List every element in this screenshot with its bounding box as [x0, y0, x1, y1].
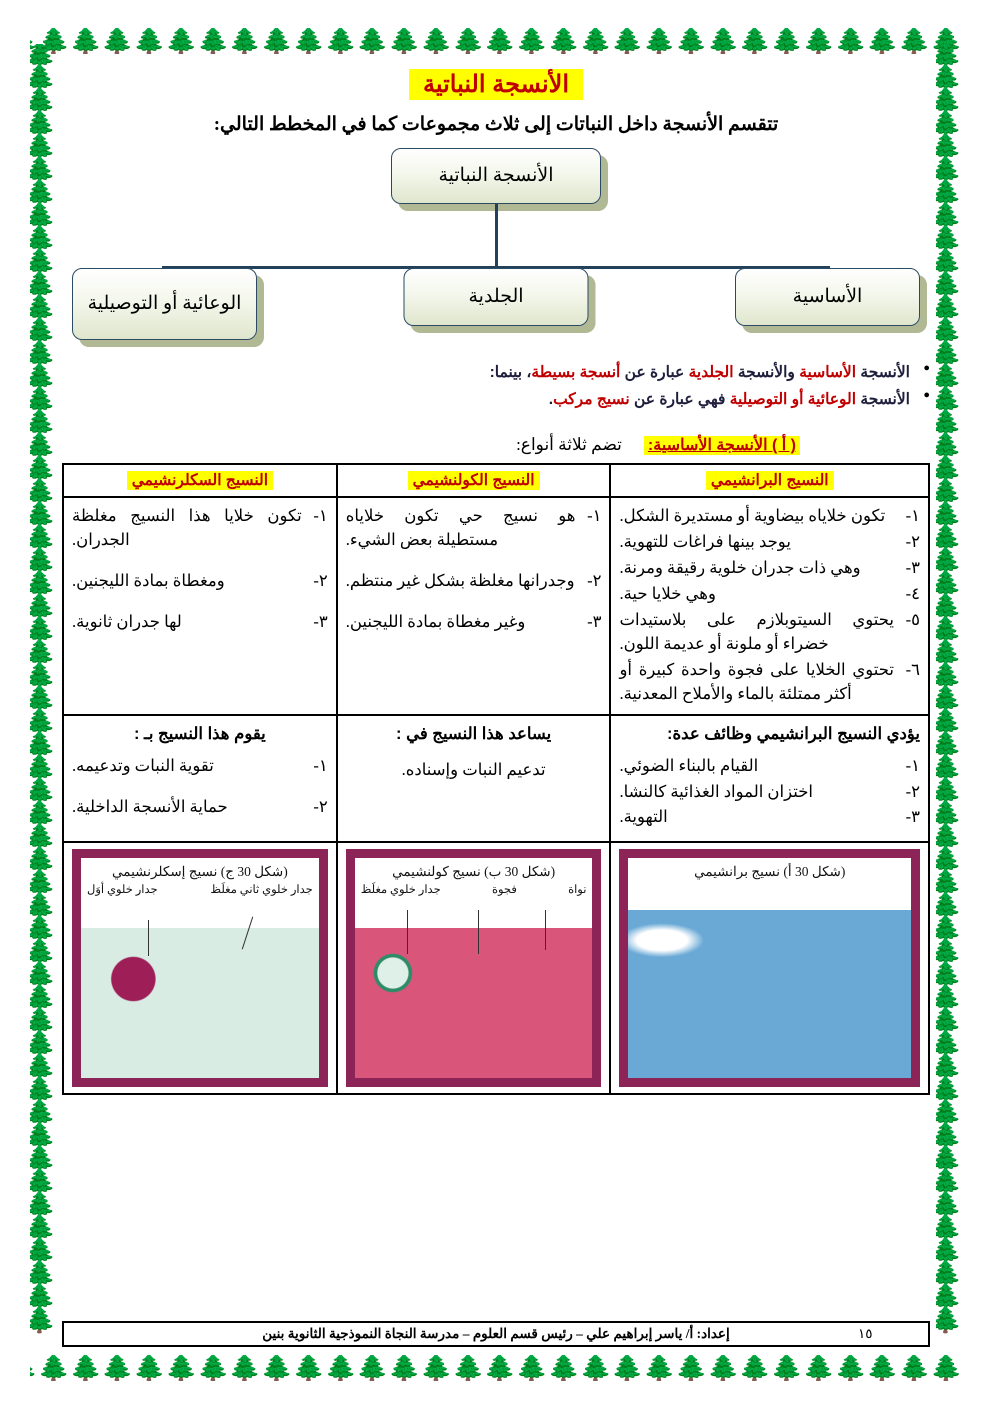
bullet-2-part-1: الأنسجة	[860, 391, 910, 408]
item-text: وجدرانها مغلظة بشكل غير منتظم.	[346, 571, 575, 590]
cell-sclerenchyma-features: ١-تكون خلايا هذا النسيج مغلظة الجدران. ٢…	[63, 497, 337, 714]
list-item: ١-تقوية النبات وتدعيمه.	[72, 754, 328, 778]
flowchart-node-root: الأنسجة النباتية	[391, 148, 601, 204]
item-number: ١-	[313, 754, 327, 778]
item-number: ٢-	[906, 780, 920, 804]
bullet-1-red-2: الجلدية	[689, 364, 734, 381]
item-number: ١-	[906, 754, 920, 778]
leader-line-thick-wall	[545, 910, 546, 950]
bullet-1-part-3: عبارة عن	[625, 364, 685, 381]
list-item: ٦-تحتوي الخلايا على فجوة واحدة كبيرة أو …	[619, 658, 920, 706]
flowchart-child-label-3: الوعائية أو التوصيلية	[88, 292, 242, 316]
bullet-2-red-1: الوعائية أو التوصيلية	[730, 391, 856, 408]
list-item: ٥-يحتوي السيتوبلازم على بلاستيدات خضراء …	[619, 608, 920, 656]
footer-credit: إعداد: أ/ ياسر إبراهيم علي – رئيس قسم ال…	[134, 1326, 858, 1342]
bullet-item-complex-tissue: الأنسجة الوعائية أو التوصيلية فهي عبارة …	[62, 386, 930, 413]
item-number: ٥-	[906, 608, 920, 632]
list-item: ٣-لها جدران ثانوية.	[72, 610, 328, 634]
bullet-1-part-4: ، بينما:	[490, 364, 532, 381]
figure-label-thick-wall: جدار خلوي مغلَظ	[361, 882, 441, 896]
table-row-features: ١-تكون خلاياه بيضاوية أو مستديرة الشكل. …	[63, 497, 929, 714]
table-header-parenchyma-label: النسيج البرانشيمي	[706, 471, 834, 490]
page-title: الأنسجة النباتية	[62, 70, 930, 99]
item-number: ٢-	[587, 569, 601, 593]
item-number: ٣-	[906, 556, 920, 580]
list-item: ١-القيام بالبناء الضوئي.	[619, 754, 920, 778]
collenchyma-function-text: تدعيم النبات وإسناده.	[346, 760, 602, 780]
list-item: ٤-وهي خلايا حية.	[619, 582, 920, 606]
figure-parenchyma-caption: (شكل 30 أ) نسيج برانشيمي	[628, 858, 911, 882]
sclerenchyma-function-list: ١-تقوية النبات وتدعيمه. ٢-حماية الأنسجة …	[72, 754, 328, 819]
parenchyma-function-list: ١-القيام بالبناء الضوئي. ٢-اختزان المواد…	[619, 754, 920, 830]
list-item: ٣-وغير مغطاة بمادة الليجنين.	[346, 610, 602, 634]
leader-line-vacuole	[478, 910, 479, 954]
parenchyma-feature-list: ١-تكون خلاياه بيضاوية أو مستديرة الشكل. …	[619, 504, 920, 705]
list-item: ١-هو نسيج حي تكون خلاياه مستطيلة بعض الش…	[346, 504, 602, 552]
page-footer: ١٥ إعداد: أ/ ياسر إبراهيم علي – رئيس قسم…	[62, 1321, 930, 1347]
page-number: ١٥	[858, 1326, 918, 1342]
figure-parenchyma: (شكل 30 أ) نسيج برانشيمي	[619, 849, 920, 1087]
item-text: تحتوي الخلايا على فجوة واحدة كبيرة أو أك…	[619, 660, 894, 703]
figure-label-vacuole: فجوة	[492, 882, 517, 896]
item-text: ومغطاة بمادة الليجنين.	[72, 571, 225, 590]
item-text: هو نسيج حي تكون خلاياه مستطيلة بعض الشيء…	[346, 506, 576, 549]
item-text: حماية الأنسجة الداخلية.	[72, 797, 228, 816]
cell-sclerenchyma-figure: (شكل 30 ج) نسيج إسكلرنشيمي جدار خلوي ثان…	[63, 842, 337, 1094]
item-text: القيام بالبناء الضوئي.	[619, 756, 758, 775]
item-number: ٢-	[313, 569, 327, 593]
cell-collenchyma-features: ١-هو نسيج حي تكون خلاياه مستطيلة بعض الش…	[337, 497, 611, 714]
collenchyma-functions-lead: يساعد هذا النسيج في :	[346, 724, 602, 744]
figure-collenchyma-caption: (شكل 30 ب) نسيج كولنشيمي	[355, 858, 593, 882]
list-item: ٣-وهي ذات جدران خلوية رقيقة ومرنة.	[619, 556, 920, 580]
tissue-flowchart: الأنسجة النباتية الأساسية الجلدية الوعائ…	[62, 148, 930, 353]
item-text: لها جدران ثانوية.	[72, 612, 182, 631]
item-number: ٤-	[906, 582, 920, 606]
leader-line-nucleus	[407, 910, 408, 954]
connector-root-vertical	[495, 204, 498, 266]
flowchart-node-ground-tissue: الأساسية	[735, 268, 920, 326]
item-number: ٣-	[906, 805, 920, 829]
table-row-headers: النسيج البرانشيمي النسيج الكولنشيمي النس…	[63, 464, 929, 497]
cell-parenchyma-features: ١-تكون خلاياه بيضاوية أو مستديرة الشكل. …	[610, 497, 929, 714]
item-number: ٦-	[906, 658, 920, 682]
item-number: ١-	[906, 504, 920, 528]
table-header-parenchyma: النسيج البرانشيمي	[610, 464, 929, 497]
sclerenchyma-feature-list: ١-تكون خلايا هذا النسيج مغلظة الجدران. ٢…	[72, 504, 328, 634]
item-text: تكون خلاياه بيضاوية أو مستديرة الشكل.	[619, 506, 885, 525]
item-number: ١-	[587, 504, 601, 528]
page-content: الأنسجة النباتية تتقسم الأنسجة داخل النب…	[62, 62, 930, 1343]
table-header-sclerenchyma: النسيج السكلرنشيمي	[63, 464, 337, 497]
list-item: ٢-حماية الأنسجة الداخلية.	[72, 795, 328, 819]
figure-sclerenchyma-labels: جدار خلوي ثاني مغلَظ جدار خلوي أوَل	[81, 882, 319, 896]
section-heading-rest: تضم ثلاثة أنواع:	[516, 435, 622, 454]
table-row-functions: يؤدي النسيج البرانشيمي وظائف عدة: ١-القي…	[63, 715, 929, 843]
figure-sclerenchyma: (شكل 30 ج) نسيج إسكلرنشيمي جدار خلوي ثان…	[72, 849, 328, 1087]
table-header-sclerenchyma-label: النسيج السكلرنشيمي	[127, 471, 273, 490]
collenchyma-feature-list: ١-هو نسيج حي تكون خلاياه مستطيلة بعض الش…	[346, 504, 602, 634]
page-title-text: الأنسجة النباتية	[409, 69, 583, 100]
flowchart-child-label-2: الجلدية	[468, 285, 523, 309]
item-text: وهي ذات جدران خلوية رقيقة ومرنة.	[619, 558, 860, 577]
bullet-1-red-3: أنسجة بسيطة	[531, 364, 620, 381]
sclerenchyma-functions-lead: يقوم هذا النسيج بـ :	[72, 724, 328, 744]
bullet-1-part-2: والأنسجة	[738, 364, 795, 381]
table-header-collenchyma: النسيج الكولنشيمي	[337, 464, 611, 497]
bullet-2-red-2: نسيج مركب	[553, 391, 630, 408]
flowchart-node-dermal-tissue: الجلدية	[404, 268, 589, 326]
micrograph-parenchyma-image	[628, 910, 911, 1078]
micrograph-sclerenchyma-image	[81, 928, 319, 1078]
summary-bullet-list: الأنسجة الأساسية والأنسجة الجلدية عبارة …	[62, 359, 930, 413]
section-heading-tag: ( أ ) الأنسجة الأساسية:	[644, 436, 800, 455]
intro-sentence: تتقسم الأنسجة داخل النباتات إلى ثلاث مجم…	[62, 113, 930, 136]
cell-collenchyma-functions: يساعد هذا النسيج في : تدعيم النبات وإسنا…	[337, 715, 611, 843]
cell-parenchyma-figure: (شكل 30 أ) نسيج برانشيمي	[610, 842, 929, 1094]
list-item: ٢-اختزان المواد الغذائية كالنشا.	[619, 780, 920, 804]
cell-sclerenchyma-functions: يقوم هذا النسيج بـ : ١-تقوية النبات وتدع…	[63, 715, 337, 843]
item-text: يوجد بينها فراغات للتهوية.	[619, 532, 790, 551]
section-heading-ground-tissues: ( أ ) الأنسجة الأساسية: تضم ثلاثة أنواع:	[62, 435, 930, 455]
list-item: ١-تكون خلايا هذا النسيج مغلظة الجدران.	[72, 504, 328, 552]
figure-collenchyma: (شكل 30 ب) نسيج كولنشيمي نواة فجوة جدار …	[346, 849, 602, 1087]
figure-label-nucleus: نواة	[568, 882, 586, 896]
flowchart-child-label-1: الأساسية	[793, 285, 863, 309]
bullet-2-part-2: فهي عبارة عن	[634, 391, 725, 408]
tree-border-bottom: 🌲🌲🌲🌲🌲🌲🌲🌲🌲🌲🌲🌲🌲🌲🌲🌲🌲🌲🌲🌲🌲🌲🌲🌲🌲🌲🌲🌲🌲🌲🌲🌲🌲🌲🌲🌲🌲🌲🌲🌲…	[30, 1355, 962, 1381]
item-number: ١-	[313, 504, 327, 528]
bullet-1-part-1: الأنسجة	[860, 364, 910, 381]
item-text: وهي خلايا حية.	[619, 584, 716, 603]
list-item: ٢-وجدرانها مغلظة بشكل غير منتظم.	[346, 569, 602, 593]
item-text: تقوية النبات وتدعيمه.	[72, 756, 214, 775]
table-header-collenchyma-label: النسيج الكولنشيمي	[408, 471, 540, 490]
bullet-1-red-1: الأساسية	[799, 364, 856, 381]
tree-border-top: 🌲🌲🌲🌲🌲🌲🌲🌲🌲🌲🌲🌲🌲🌲🌲🌲🌲🌲🌲🌲🌲🌲🌲🌲🌲🌲🌲🌲🌲🌲🌲🌲🌲🌲🌲🌲🌲🌲🌲🌲…	[30, 28, 962, 54]
item-text: اختزان المواد الغذائية كالنشا.	[619, 782, 813, 801]
bullet-item-simple-tissues: الأنسجة الأساسية والأنسجة الجلدية عبارة …	[62, 359, 930, 386]
tree-border-left: 🌲🌲🌲🌲🌲🌲🌲🌲🌲🌲🌲🌲🌲🌲🌲🌲🌲🌲🌲🌲🌲🌲🌲🌲🌲🌲🌲🌲🌲🌲🌲🌲🌲🌲🌲🌲🌲🌲🌲🌲…	[30, 44, 56, 1367]
cell-collenchyma-figure: (شكل 30 ب) نسيج كولنشيمي نواة فجوة جدار …	[337, 842, 611, 1094]
item-text: وغير مغطاة بمادة الليجنين.	[346, 612, 526, 631]
item-number: ٣-	[313, 610, 327, 634]
list-item: ٢-يوجد بينها فراغات للتهوية.	[619, 530, 920, 554]
item-number: ٢-	[313, 795, 327, 819]
figure-label-primary-wall: جدار خلوي أوَل	[87, 882, 158, 896]
tissue-comparison-table: النسيج البرانشيمي النسيج الكولنشيمي النس…	[62, 463, 930, 1095]
item-text: تكون خلايا هذا النسيج مغلظة الجدران.	[72, 506, 302, 549]
flowchart-root-label: الأنسجة النباتية	[438, 164, 553, 188]
figure-collenchyma-labels: نواة فجوة جدار خلوي مغلَظ	[355, 882, 593, 896]
tree-border-right: 🌲🌲🌲🌲🌲🌲🌲🌲🌲🌲🌲🌲🌲🌲🌲🌲🌲🌲🌲🌲🌲🌲🌲🌲🌲🌲🌲🌲🌲🌲🌲🌲🌲🌲🌲🌲🌲🌲🌲🌲…	[936, 44, 962, 1367]
micrograph-collenchyma-image	[355, 928, 593, 1078]
item-number: ٣-	[587, 610, 601, 634]
list-item: ٢-ومغطاة بمادة الليجنين.	[72, 569, 328, 593]
table-row-figures: (شكل 30 أ) نسيج برانشيمي (شكل 30 ب) نسيج…	[63, 842, 929, 1094]
list-item: ١-تكون خلاياه بيضاوية أو مستديرة الشكل.	[619, 504, 920, 528]
item-number: ٢-	[906, 530, 920, 554]
figure-label-secondary-wall: جدار خلوي ثاني مغلَظ	[210, 882, 312, 896]
item-text: يحتوي السيتوبلازم على بلاستيدات خضراء أو…	[619, 610, 894, 653]
flowchart-node-vascular-tissue: الوعائية أو التوصيلية	[72, 268, 257, 340]
cell-parenchyma-functions: يؤدي النسيج البرانشيمي وظائف عدة: ١-القي…	[610, 715, 929, 843]
item-text: التهوية.	[619, 807, 667, 826]
figure-sclerenchyma-caption: (شكل 30 ج) نسيج إسكلرنشيمي	[81, 858, 319, 882]
leader-line-secondary-wall	[148, 920, 149, 956]
list-item: ٣-التهوية.	[619, 805, 920, 829]
parenchyma-functions-lead: يؤدي النسيج البرانشيمي وظائف عدة:	[619, 724, 920, 744]
